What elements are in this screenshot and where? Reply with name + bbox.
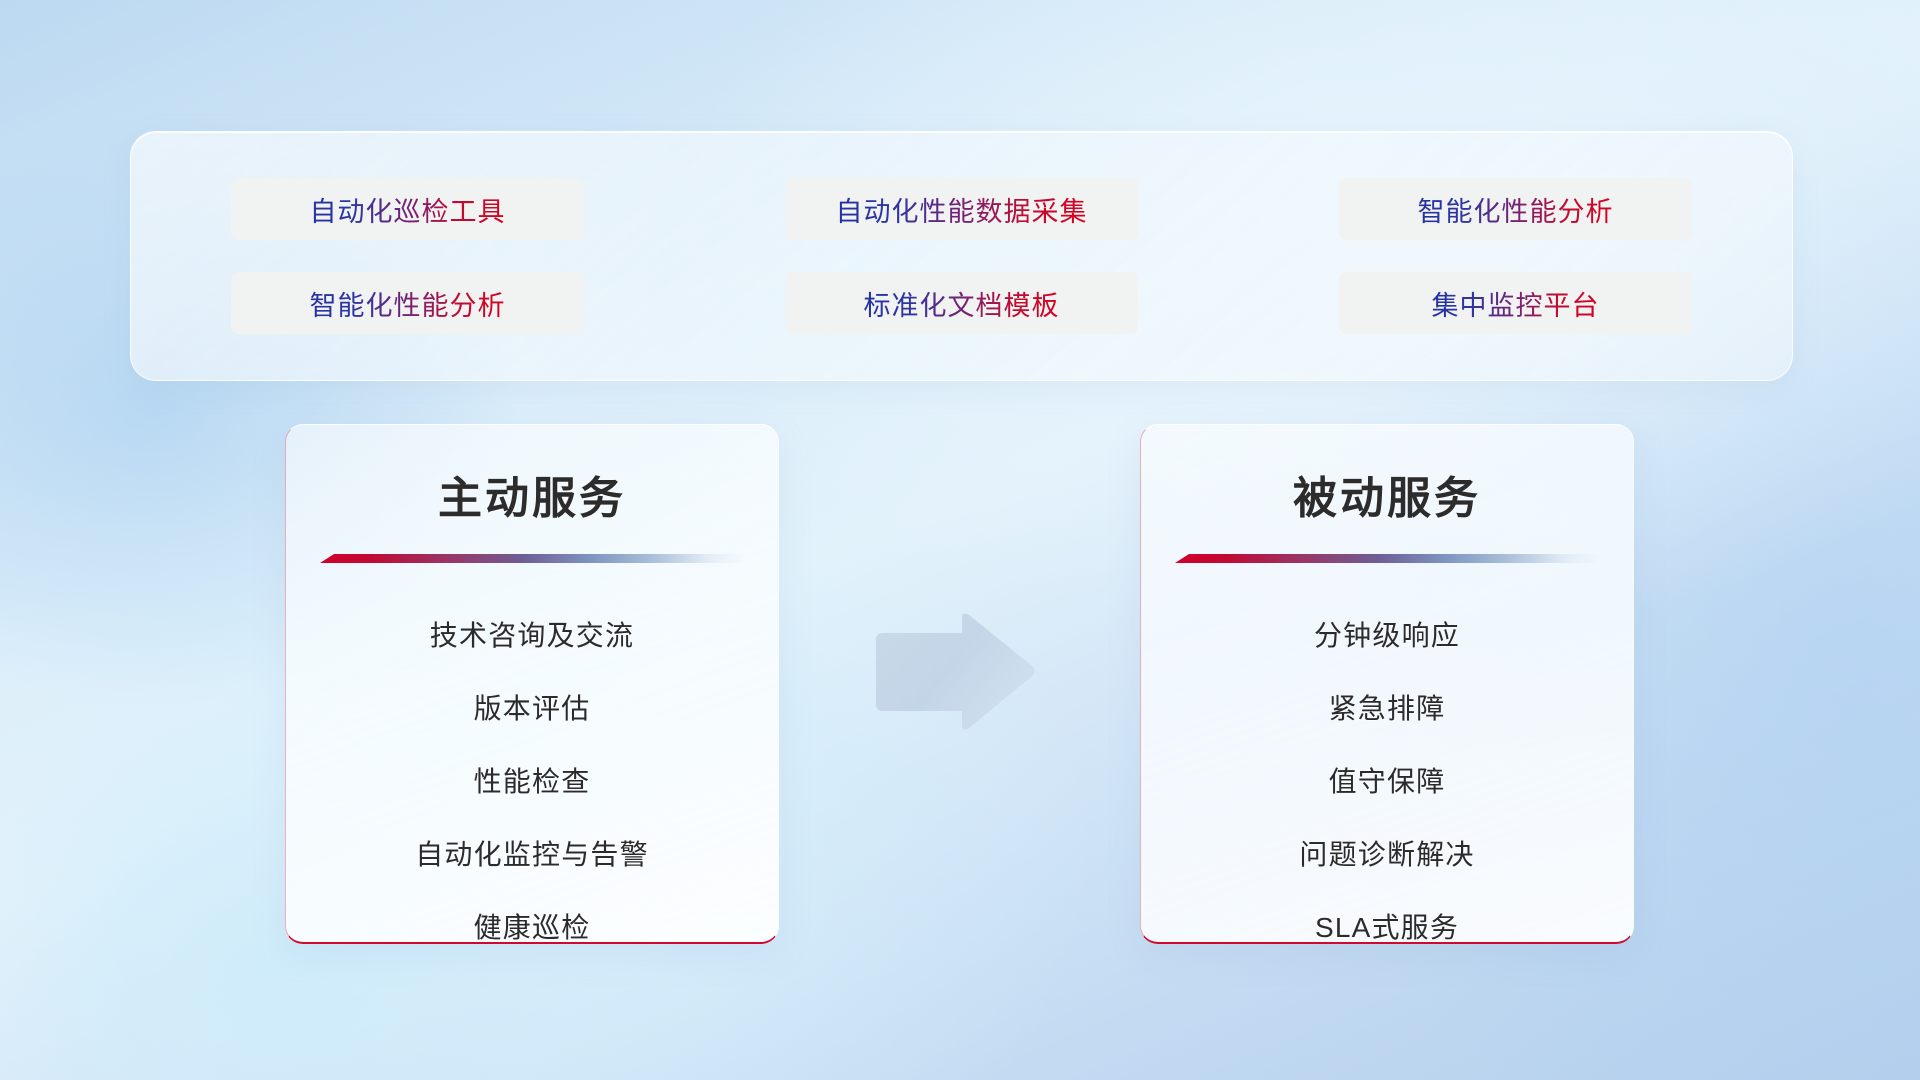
capability-chip-label: 自动化性能数据采集: [836, 190, 1088, 229]
capability-chip-centralized-monitoring-platform[interactable]: 集中监控平台: [1337, 270, 1694, 336]
card-title: 主动服务: [286, 462, 778, 526]
chip-surface: 自动化巡检工具: [231, 178, 584, 240]
capability-chip-standardized-document-template[interactable]: 标准化文档模板: [783, 270, 1140, 336]
list-item: 性能检查: [474, 745, 591, 818]
list-item: SLA式服务: [1315, 891, 1459, 944]
chip-surface: 智能化性能分析: [231, 272, 584, 334]
service-card-reactive: 被动服务 分钟级响应 紧急排障 值守保障 问题诊断解决 SLA式服务: [1140, 424, 1634, 944]
title-underline-rule: [1175, 554, 1599, 563]
chip-surface: 智能化性能分析: [1339, 178, 1692, 240]
capability-row-1: 自动化巡检工具 自动化性能数据采集 智能化性能分析: [229, 176, 1694, 242]
title-underline-bar: [1175, 554, 1599, 563]
list-item: 分钟级响应: [1314, 599, 1460, 672]
capability-chip-label: 智能化性能分析: [310, 284, 506, 323]
title-underline-rule: [320, 554, 744, 563]
list-item: 自动化监控与告警: [415, 818, 649, 891]
list-item: 健康巡检: [474, 891, 591, 944]
service-card-proactive: 主动服务 技术咨询及交流 版本评估 性能检查 自动化监控与告警 健康巡检: [285, 424, 779, 944]
card-title: 被动服务: [1141, 462, 1633, 526]
arrow-right-icon: [870, 612, 1038, 732]
capability-chip-intelligent-performance-analysis[interactable]: 智能化性能分析: [1337, 176, 1694, 242]
title-underline-bar: [320, 554, 744, 563]
service-item-list: 技术咨询及交流 版本评估 性能检查 自动化监控与告警 健康巡检: [286, 599, 778, 944]
chip-surface: 标准化文档模板: [785, 272, 1138, 334]
capability-chip-automated-performance-data-collection[interactable]: 自动化性能数据采集: [783, 176, 1140, 242]
capability-row-2: 智能化性能分析 标准化文档模板 集中监控平台: [229, 270, 1694, 336]
capability-chip-label: 集中监控平台: [1432, 284, 1600, 323]
diagram-canvas: 自动化巡检工具 自动化性能数据采集 智能化性能分析 智能化性能分析: [0, 0, 1920, 1080]
list-item: 值守保障: [1329, 745, 1446, 818]
list-item: 技术咨询及交流: [430, 599, 634, 672]
chip-surface: 集中监控平台: [1339, 272, 1692, 334]
chip-surface: 自动化性能数据采集: [785, 178, 1138, 240]
capability-chip-automated-inspection-tool[interactable]: 自动化巡检工具: [229, 176, 586, 242]
list-item: 紧急排障: [1329, 672, 1446, 745]
service-item-list: 分钟级响应 紧急排障 值守保障 问题诊断解决 SLA式服务: [1141, 599, 1633, 944]
capability-chip-label: 自动化巡检工具: [310, 190, 506, 229]
list-item: 问题诊断解决: [1299, 818, 1474, 891]
capability-panel: 自动化巡检工具 自动化性能数据采集 智能化性能分析 智能化性能分析: [130, 131, 1793, 381]
list-item: 版本评估: [474, 672, 591, 745]
capability-chip-label: 智能化性能分析: [1418, 190, 1614, 229]
capability-chip-label: 标准化文档模板: [864, 284, 1060, 323]
capability-chip-intelligent-performance-analysis-2[interactable]: 智能化性能分析: [229, 270, 586, 336]
